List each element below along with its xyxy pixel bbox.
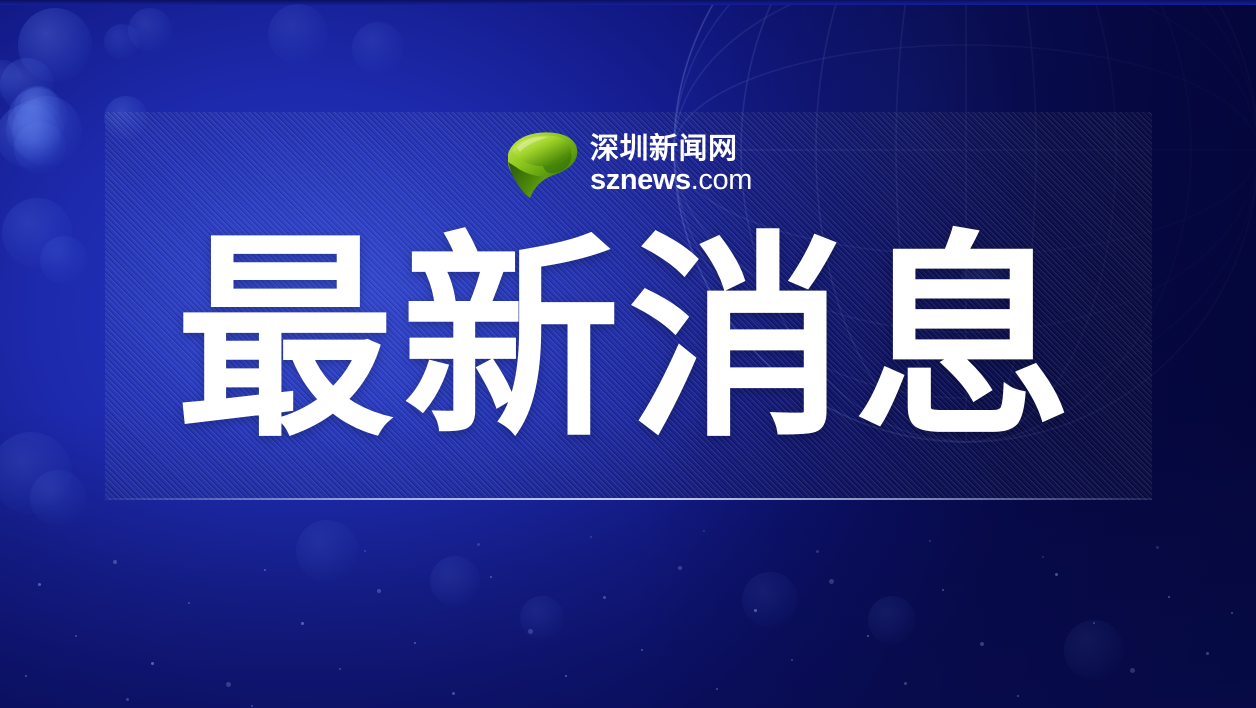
news-banner-image: 深圳新闻网 sznews.com 最新消息 [0,0,1256,708]
panel-bottom-highlight [105,498,1152,500]
logo-domain-name: sznews.com [590,164,752,196]
top-edge-strip [0,0,1256,5]
logo-domain-bold: sznews [590,164,691,196]
sznews-logo: 深圳新闻网 sznews.com [503,128,752,202]
logo-domain-tld: .com [691,164,752,196]
headline-text: 最新消息 [0,232,1256,450]
logo-text-block: 深圳新闻网 sznews.com [590,134,752,196]
sznews-green-leaf-icon [503,128,581,202]
logo-chinese-name: 深圳新闻网 [590,134,752,164]
